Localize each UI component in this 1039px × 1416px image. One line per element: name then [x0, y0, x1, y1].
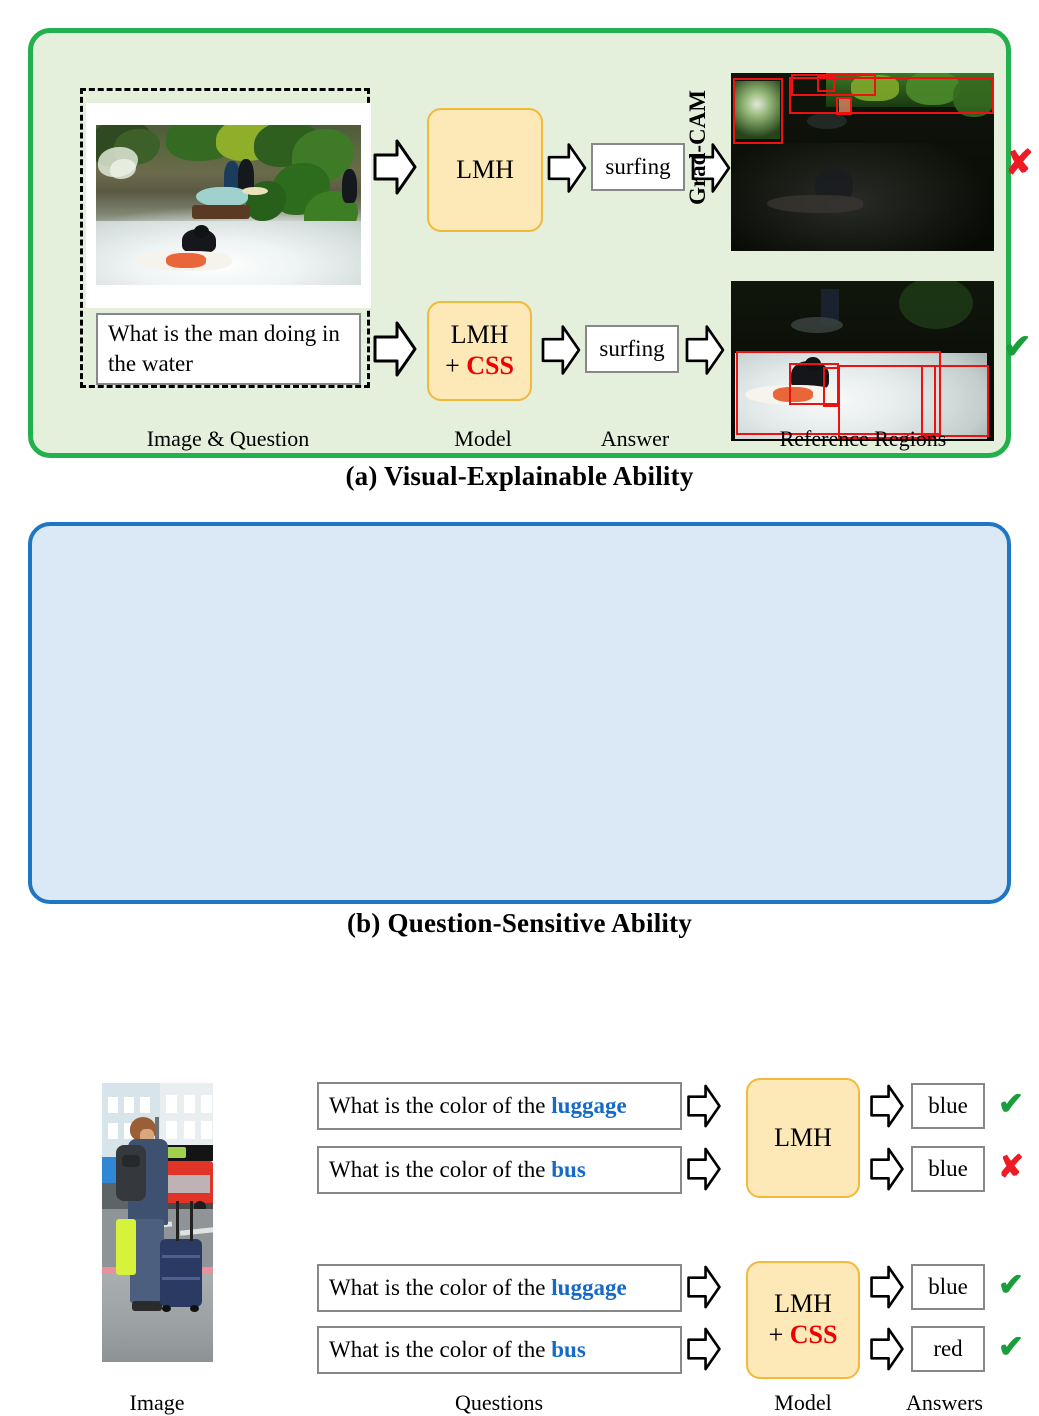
- arrow-model-to-answer-g1-q2: [870, 1144, 904, 1194]
- caption-panel-b: (b) Question-Sensitive Ability: [0, 908, 1039, 939]
- answer-text: red: [933, 1336, 962, 1362]
- answer-text-bottom-a: surfing: [599, 336, 664, 362]
- question-text-a: What is the man doing in the water: [98, 319, 359, 380]
- caption-panel-a: (a) Visual-Explainable Ability: [0, 461, 1039, 492]
- arrow-input-to-model-bottom: [373, 319, 417, 379]
- verdict-b-g1-q1: ✔: [998, 1088, 1024, 1119]
- answer-box-b-g2-q1[interactable]: blue: [911, 1264, 985, 1310]
- answer-text: blue: [928, 1093, 968, 1119]
- gradcam-label: Grad-CAM: [685, 90, 711, 205]
- css-label: CSS: [790, 1320, 838, 1349]
- model-box-lmh-a[interactable]: LMH: [427, 108, 543, 232]
- question-keyword: luggage: [551, 1093, 626, 1118]
- model-box-lmh-css-a[interactable]: LMH + CSS: [427, 301, 532, 401]
- question-text: What is the color of the bus: [319, 1335, 596, 1365]
- arrow-question-to-model-g2-q1: [687, 1262, 721, 1312]
- question-text: What is the color of the bus: [319, 1155, 596, 1185]
- column-label-reference-regions: Reference Regions: [733, 426, 993, 452]
- question-text: What is the color of the luggage: [319, 1273, 637, 1303]
- verdict-b-g2-q2: ✔: [998, 1331, 1024, 1362]
- answer-box-bottom-a[interactable]: surfing: [585, 325, 679, 373]
- question-keyword: luggage: [551, 1275, 626, 1300]
- answer-text-top-a: surfing: [605, 154, 670, 180]
- arrow-model-to-answer-bottom: [541, 323, 581, 377]
- model-label-line1: LMH: [774, 1289, 832, 1320]
- model-box-lmh-b[interactable]: LMH: [746, 1078, 860, 1198]
- verdict-incorrect-a: ✘: [1005, 147, 1034, 181]
- column-label-image-b: Image: [92, 1390, 222, 1416]
- arrow-answer-to-regions-bottom: [685, 323, 725, 377]
- column-label-answer: Answer: [570, 426, 700, 452]
- column-label-answers-b: Answers: [877, 1390, 1012, 1416]
- arrow-question-to-model-g1-q2: [687, 1144, 721, 1194]
- question-prefix: What is the color of the: [329, 1275, 551, 1300]
- model-label-line2: + CSS: [769, 1320, 838, 1351]
- region-box: [823, 367, 839, 407]
- column-label-model: Model: [418, 426, 548, 452]
- region-box: [733, 78, 783, 144]
- answer-box-b-g1-q1[interactable]: blue: [911, 1083, 985, 1129]
- css-label: CSS: [466, 351, 514, 380]
- question-box-b-g2-q2[interactable]: What is the color of the bus: [317, 1326, 682, 1374]
- question-box-b-g2-q1[interactable]: What is the color of the luggage: [317, 1264, 682, 1312]
- question-prefix: What is the color of the: [329, 1157, 551, 1182]
- question-box-b-g1-q2[interactable]: What is the color of the bus: [317, 1146, 682, 1194]
- arrow-model-to-answer-g2-q2: [870, 1324, 904, 1374]
- question-text: What is the color of the luggage: [319, 1091, 637, 1121]
- answer-text: blue: [928, 1156, 968, 1182]
- answer-box-top-a[interactable]: surfing: [591, 143, 685, 191]
- arrow-model-to-answer-g1-q1: [870, 1081, 904, 1131]
- column-label-model-b: Model: [738, 1390, 868, 1416]
- arrow-question-to-model-g2-q2: [687, 1324, 721, 1374]
- reference-regions-bottom: [731, 281, 994, 441]
- panel-visual-explainable: What is the man doing in the water LMH L…: [28, 28, 1011, 458]
- region-box: [836, 97, 852, 115]
- question-prefix: What is the color of the: [329, 1093, 551, 1118]
- answer-box-b-g1-q2[interactable]: blue: [911, 1146, 985, 1192]
- input-image-street: [98, 1079, 217, 1366]
- column-label-questions-b: Questions: [369, 1390, 629, 1416]
- answer-text: blue: [928, 1274, 968, 1300]
- arrow-input-to-model-top: [373, 137, 417, 197]
- verdict-b-g2-q1: ✔: [998, 1269, 1024, 1300]
- plus-sign: +: [445, 351, 466, 380]
- arrow-model-to-answer-g2-q1: [870, 1262, 904, 1312]
- model-box-lmh-css-b[interactable]: LMH + CSS: [746, 1261, 860, 1379]
- model-label-line1: LMH: [451, 320, 509, 351]
- question-keyword: bus: [551, 1337, 586, 1362]
- answer-box-b-g2-q2[interactable]: red: [911, 1326, 985, 1372]
- question-keyword: bus: [551, 1157, 586, 1182]
- question-box-a[interactable]: What is the man doing in the water: [96, 313, 361, 385]
- input-image-surfing: [96, 125, 361, 285]
- reference-regions-top: [731, 73, 994, 251]
- verdict-b-g1-q2: ✘: [998, 1151, 1024, 1182]
- model-label-line1: LMH: [456, 155, 514, 186]
- model-label-line2: + CSS: [445, 351, 514, 382]
- verdict-correct-a: ✔: [1003, 331, 1032, 365]
- arrow-question-to-model-g1-q1: [687, 1081, 721, 1131]
- question-prefix: What is the color of the: [329, 1337, 551, 1362]
- arrow-model-to-answer-top: [547, 141, 587, 195]
- panel-question-sensitive: What is the color of the luggage What is…: [28, 522, 1011, 904]
- region-box: [789, 77, 994, 114]
- model-label-line1: LMH: [774, 1123, 832, 1154]
- question-box-b-g1-q1[interactable]: What is the color of the luggage: [317, 1082, 682, 1130]
- plus-sign: +: [769, 1320, 790, 1349]
- column-label-image-question: Image & Question: [88, 426, 368, 452]
